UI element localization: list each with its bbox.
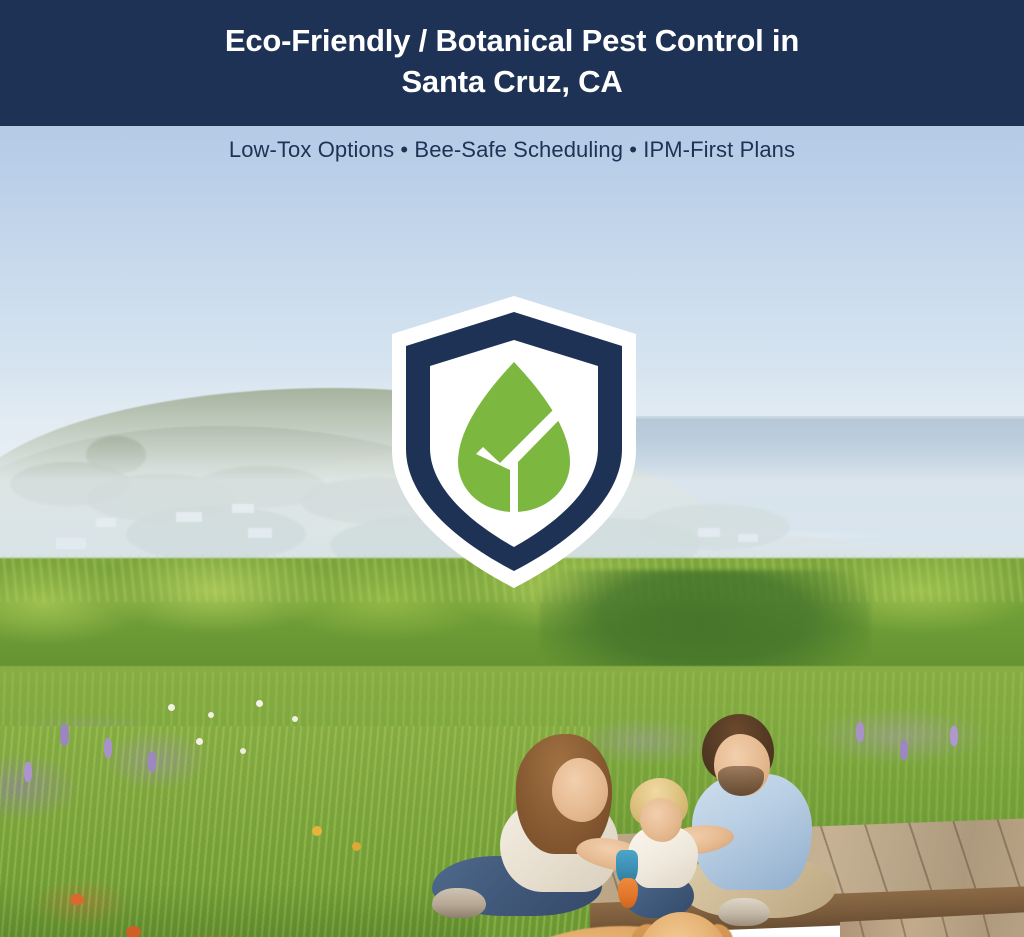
mother-head bbox=[552, 758, 608, 822]
orange-flower bbox=[126, 926, 141, 937]
lavender-flower bbox=[900, 740, 908, 760]
daisy-flower bbox=[240, 748, 246, 754]
daisy-flower bbox=[256, 700, 263, 707]
subtitle-text: Low-Tox Options • Bee-Safe Scheduling • … bbox=[229, 137, 795, 163]
yellow-flower bbox=[312, 826, 322, 836]
eco-pest-control-poster: Eco-Friendly / Botanical Pest Control in… bbox=[0, 0, 1024, 937]
subtitle-strip: Low-Tox Options • Bee-Safe Scheduling • … bbox=[0, 126, 1024, 174]
lavender-flower bbox=[104, 738, 112, 758]
page-title: Eco-Friendly / Botanical Pest Control in… bbox=[0, 20, 1024, 102]
lavender-flower bbox=[24, 762, 32, 782]
orange-flower bbox=[70, 894, 84, 905]
eco-shield-logo bbox=[384, 292, 644, 592]
daisy-flower bbox=[196, 738, 203, 745]
mother-shoe bbox=[432, 888, 486, 918]
daisy-flower bbox=[292, 716, 298, 722]
daisy-flower bbox=[168, 704, 175, 711]
page-title-line-1: Eco-Friendly / Botanical Pest Control in bbox=[0, 20, 1024, 61]
lavender-flower bbox=[60, 724, 69, 746]
yellow-flower bbox=[352, 842, 361, 851]
father-shoe bbox=[718, 898, 770, 926]
shield-icon bbox=[384, 292, 644, 592]
daisy-flower bbox=[208, 712, 214, 718]
lavender-flower bbox=[856, 722, 864, 742]
lavender-flower bbox=[950, 726, 958, 746]
lavender-flower bbox=[148, 752, 156, 772]
page-title-line-2: Santa Cruz, CA bbox=[0, 61, 1024, 102]
garden-shadow bbox=[0, 886, 480, 937]
child-head bbox=[640, 798, 682, 842]
header-bar: Eco-Friendly / Botanical Pest Control in… bbox=[0, 0, 1024, 126]
